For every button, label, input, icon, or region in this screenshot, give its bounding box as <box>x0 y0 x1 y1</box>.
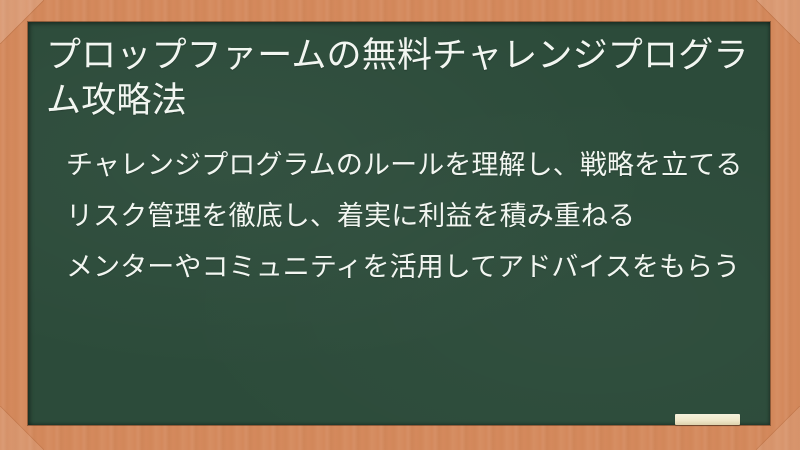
chalkboard-content: プロップファームの無料チャレンジプログラム攻略法 チャレンジプログラムのルールを… <box>28 22 770 425</box>
chalk-stick-icon <box>675 414 740 425</box>
chalkboard-slide: プロップファームの無料チャレンジプログラム攻略法 チャレンジプログラムのルールを… <box>0 0 800 450</box>
bullet-item-2: リスク管理を徹底し、着実に利益を積み重ねる <box>66 199 746 234</box>
bullet-item-3: メンターやコミュニティを活用してアドバイスをもらう <box>66 250 746 285</box>
bullet-list: チャレンジプログラムのルールを理解し、戦略を立てる リスク管理を徹底し、着実に利… <box>38 148 750 285</box>
chalkboard-surface: プロップファームの無料チャレンジプログラム攻略法 チャレンジプログラムのルールを… <box>28 22 770 425</box>
slide-title: プロップファームの無料チャレンジプログラム攻略法 <box>38 28 750 124</box>
bullet-item-1: チャレンジプログラムのルールを理解し、戦略を立てる <box>66 148 746 183</box>
